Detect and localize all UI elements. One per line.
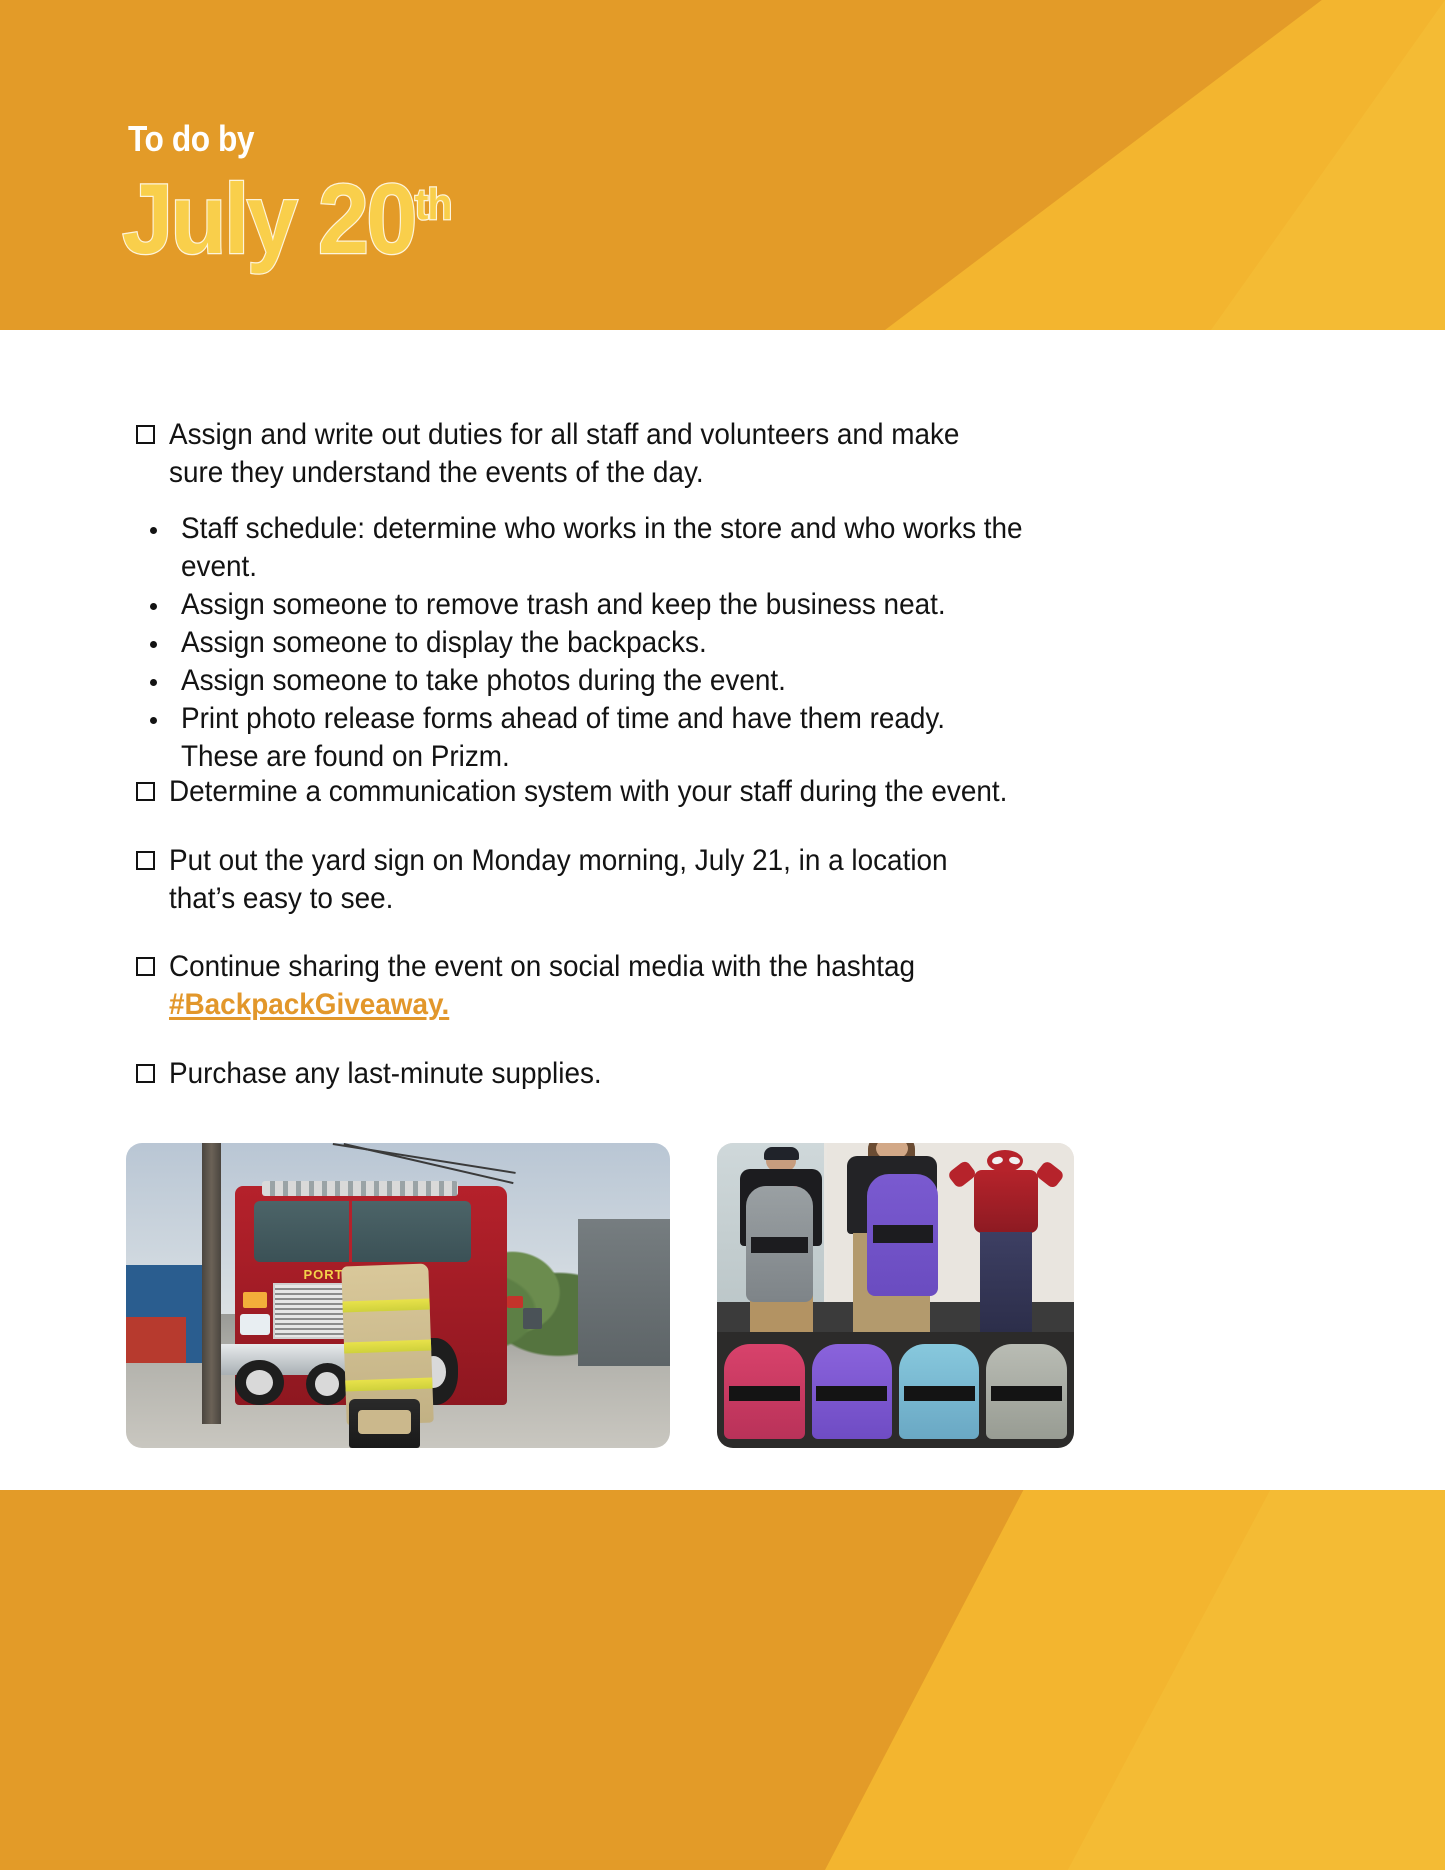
fire-truck-photo: PORTLAND bbox=[126, 1143, 670, 1448]
backpack-display-row bbox=[724, 1344, 1067, 1439]
sub-bullet-label: Assign someone to display the backpacks. bbox=[181, 624, 1026, 662]
checklist-item-label: Put out the yard sign on Monday morning,… bbox=[169, 842, 1013, 918]
photo-gallery: PORTLAND bbox=[0, 1140, 1445, 1450]
backpack-camo-held bbox=[746, 1186, 814, 1302]
checklist-item[interactable]: Determine a communication system with yo… bbox=[136, 773, 1076, 811]
reflective-stripe bbox=[344, 1340, 431, 1354]
sub-bullet-label: Print photo release forms ahead of time … bbox=[181, 700, 1026, 776]
headlight-left bbox=[240, 1314, 270, 1335]
checklist-item[interactable]: Purchase any last-minute supplies. bbox=[136, 1055, 1076, 1093]
sub-bullet-label: Assign someone to remove trash and keep … bbox=[181, 586, 1026, 624]
bullet-dot-icon bbox=[150, 527, 157, 534]
fire-truck-photo-inner: PORTLAND bbox=[126, 1143, 670, 1448]
checkbox-icon[interactable] bbox=[136, 1064, 155, 1083]
checklist-item-label: Determine a communication system with yo… bbox=[169, 773, 1013, 811]
header-date-title: July 20th bbox=[122, 162, 451, 276]
checklist-item-label: Purchase any last-minute supplies. bbox=[169, 1055, 1013, 1093]
windshield-divider bbox=[349, 1201, 352, 1262]
header-eyebrow: To do by bbox=[128, 118, 254, 160]
suit-legs bbox=[980, 1232, 1031, 1332]
backpack-pink bbox=[724, 1344, 805, 1439]
checkbox-icon[interactable] bbox=[136, 782, 155, 801]
windshield bbox=[254, 1201, 472, 1262]
reflective-stripe bbox=[345, 1378, 432, 1392]
hashtag-link[interactable]: #BackpackGiveaway. bbox=[169, 988, 449, 1021]
list-item: Staff schedule: determine who works in t… bbox=[150, 510, 1090, 586]
checklist-item-text: Continue sharing the event on social med… bbox=[169, 950, 915, 983]
header-date-main: July 20 bbox=[122, 163, 415, 274]
flyer-page: To do by July 20th Assign and write out … bbox=[0, 0, 1445, 1870]
header-date-suffix: th bbox=[415, 180, 452, 229]
bullet-dot-icon bbox=[150, 679, 157, 686]
emergency-lightbar bbox=[262, 1181, 458, 1196]
reflective-stripe bbox=[342, 1298, 429, 1312]
checkbox-icon[interactable] bbox=[136, 425, 155, 444]
checklist-item-label: Assign and write out duties for all staf… bbox=[169, 416, 1013, 492]
building-left-lower bbox=[126, 1317, 186, 1363]
utility-pole bbox=[202, 1143, 220, 1424]
building-right bbox=[578, 1219, 670, 1365]
list-item: Print photo release forms ahead of time … bbox=[150, 700, 1090, 776]
list-item: Assign someone to remove trash and keep … bbox=[150, 586, 1090, 624]
checkbox-icon[interactable] bbox=[136, 957, 155, 976]
backpack-camo bbox=[986, 1344, 1067, 1439]
turn-signal-left bbox=[243, 1292, 267, 1307]
firefighter-boots bbox=[349, 1399, 420, 1448]
sub-bullet-label: Assign someone to take photos during the… bbox=[181, 662, 1026, 700]
checklist-item-label: Continue sharing the event on social med… bbox=[169, 948, 1013, 1024]
bullet-dot-icon bbox=[150, 641, 157, 648]
truck-wheel bbox=[235, 1360, 284, 1406]
suit-torso bbox=[974, 1170, 1038, 1233]
truck-wheel bbox=[306, 1363, 350, 1406]
tcc-cap bbox=[764, 1147, 799, 1160]
backpack-purple-held bbox=[867, 1174, 938, 1296]
arm-left bbox=[947, 1159, 977, 1188]
stop-sign-icon bbox=[507, 1296, 523, 1308]
backpack-blue bbox=[899, 1344, 980, 1439]
sub-bullet-list: Staff schedule: determine who works in t… bbox=[150, 510, 1090, 776]
spider-man-character bbox=[953, 1146, 1060, 1332]
page-header: To do by July 20th bbox=[0, 0, 1445, 330]
checklist-item[interactable]: Assign and write out duties for all staf… bbox=[136, 416, 1076, 492]
sub-bullet-label: Staff schedule: determine who works in t… bbox=[181, 510, 1026, 586]
checklist-item[interactable]: Continue sharing the event on social med… bbox=[136, 948, 1076, 1024]
trash-bin bbox=[523, 1308, 542, 1329]
backpack-purple bbox=[812, 1344, 893, 1439]
list-item: Assign someone to display the backpacks. bbox=[150, 624, 1090, 662]
list-item: Assign someone to take photos during the… bbox=[150, 662, 1090, 700]
checkbox-icon[interactable] bbox=[136, 851, 155, 870]
page-footer bbox=[0, 1490, 1445, 1870]
bullet-dot-icon bbox=[150, 717, 157, 724]
bullet-dot-icon bbox=[150, 603, 157, 610]
backpack-photo-inner bbox=[717, 1143, 1074, 1448]
backpack-giveaway-photo bbox=[717, 1143, 1074, 1448]
checklist-item[interactable]: Put out the yard sign on Monday morning,… bbox=[136, 842, 1076, 918]
